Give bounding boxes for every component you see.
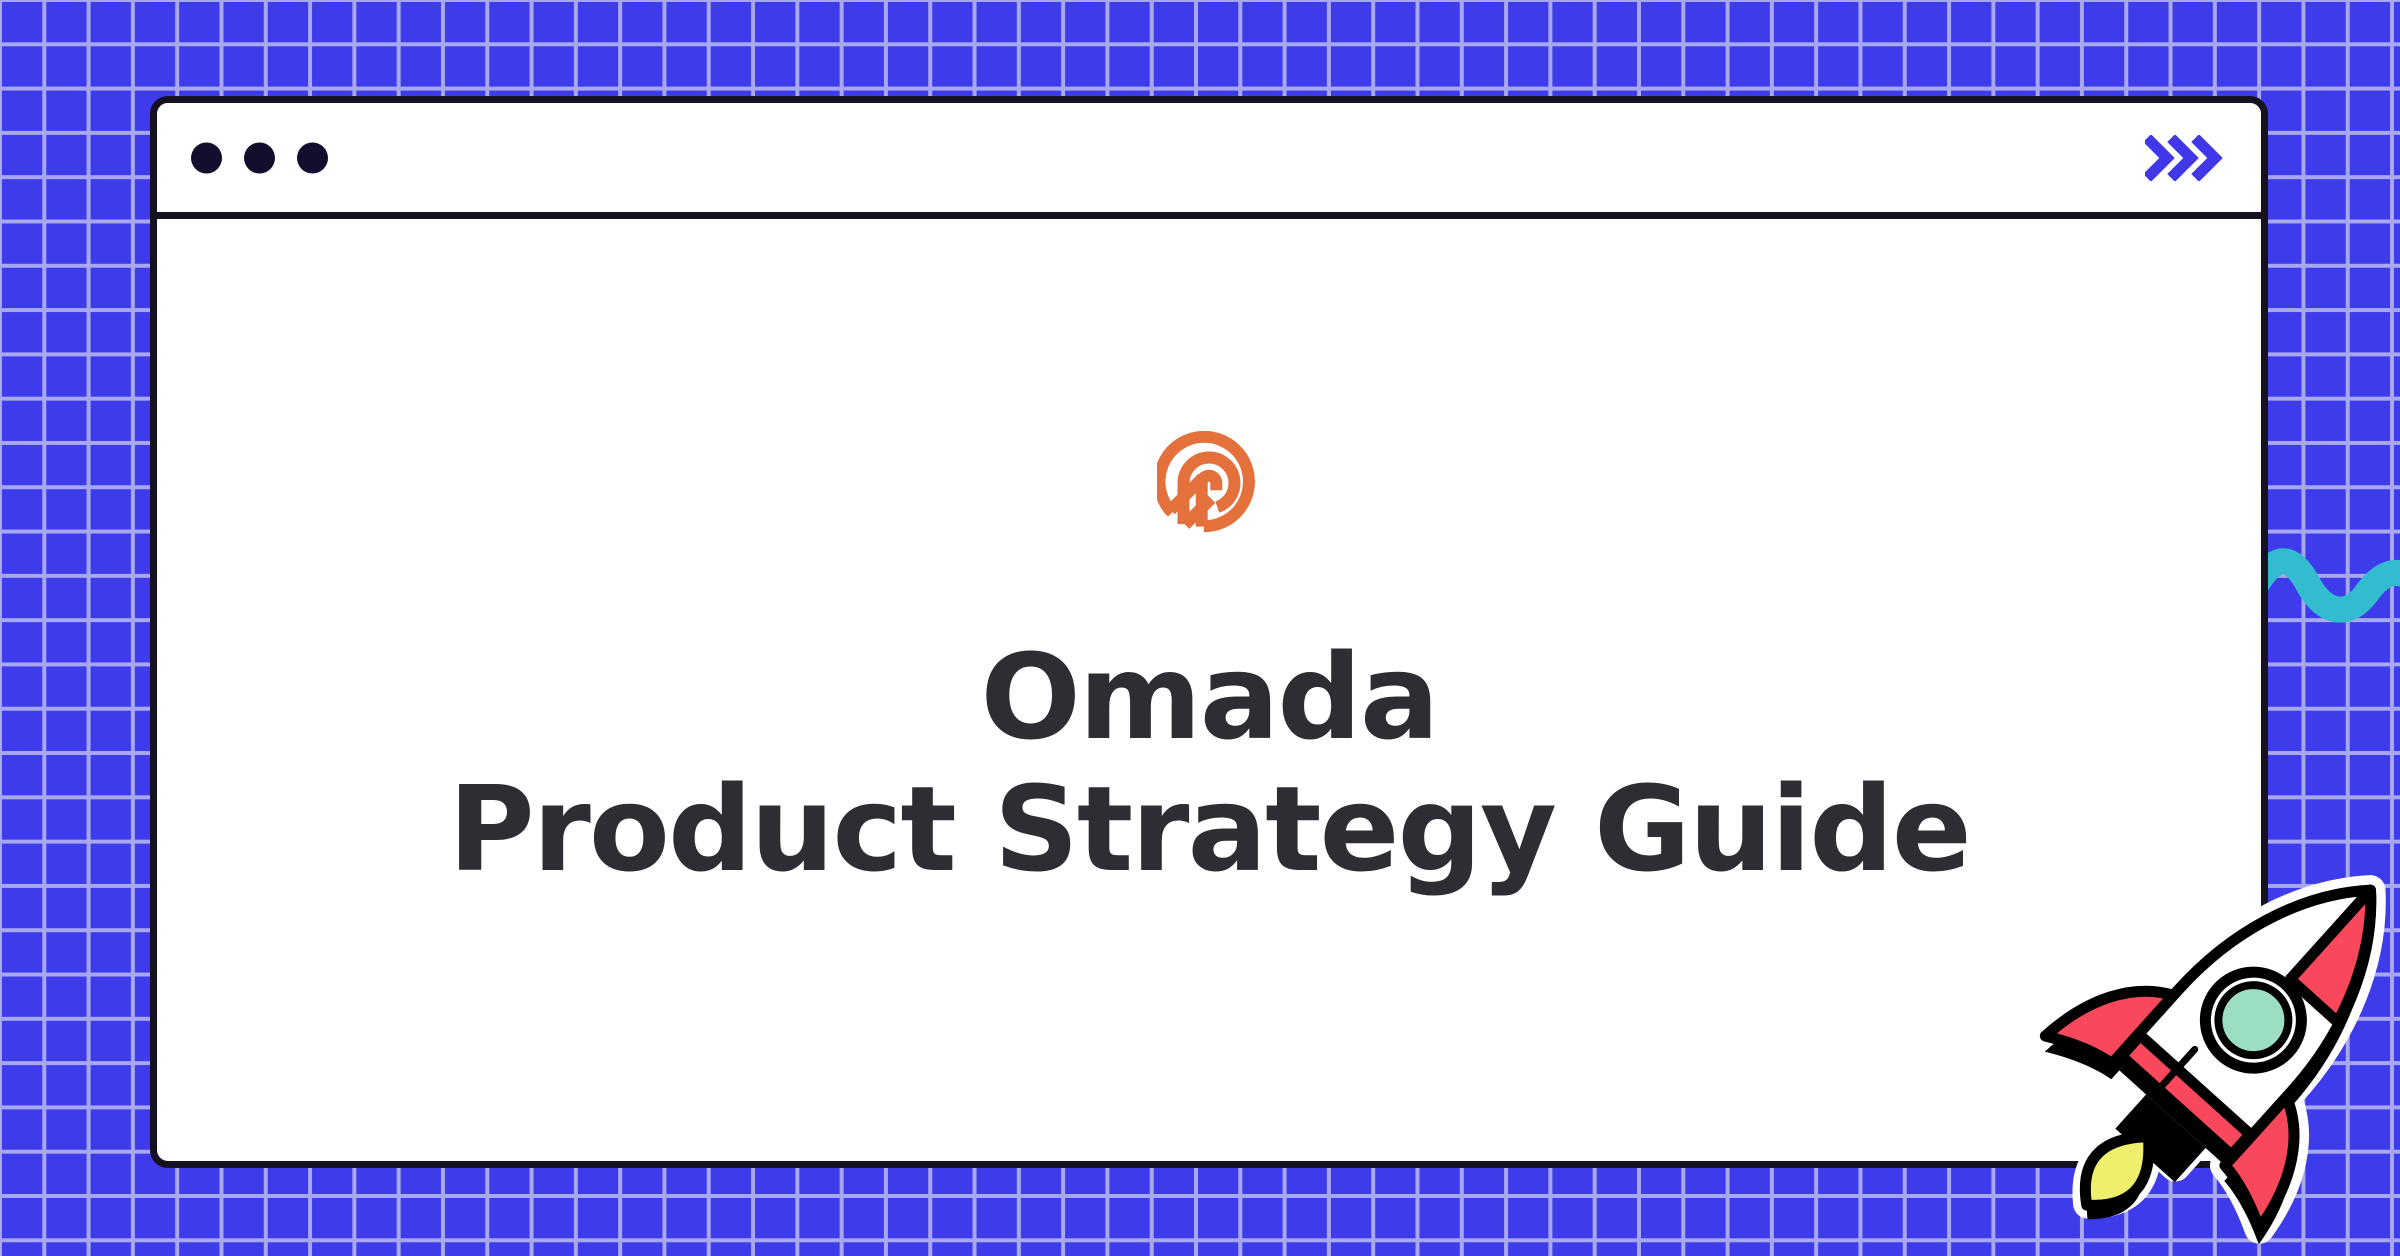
slide-canvas: Omada Product Strategy Guide	[0, 0, 2400, 1256]
page-title: Omada Product Strategy Guide	[448, 631, 1970, 895]
traffic-light-dots[interactable]	[191, 142, 328, 173]
close-dot[interactable]	[191, 142, 222, 173]
title-line-1: Omada	[448, 631, 1970, 763]
window-titlebar	[157, 103, 2261, 219]
minimize-dot[interactable]	[244, 142, 275, 173]
browser-window: Omada Product Strategy Guide	[150, 96, 2268, 1168]
slide-content: Omada Product Strategy Guide	[157, 219, 2261, 1161]
double-chevron-right-icon[interactable]	[2145, 135, 2225, 181]
omada-fingerprint-logo-icon	[1157, 431, 1261, 535]
title-line-2: Product Strategy Guide	[448, 763, 1970, 895]
maximize-dot[interactable]	[297, 142, 328, 173]
